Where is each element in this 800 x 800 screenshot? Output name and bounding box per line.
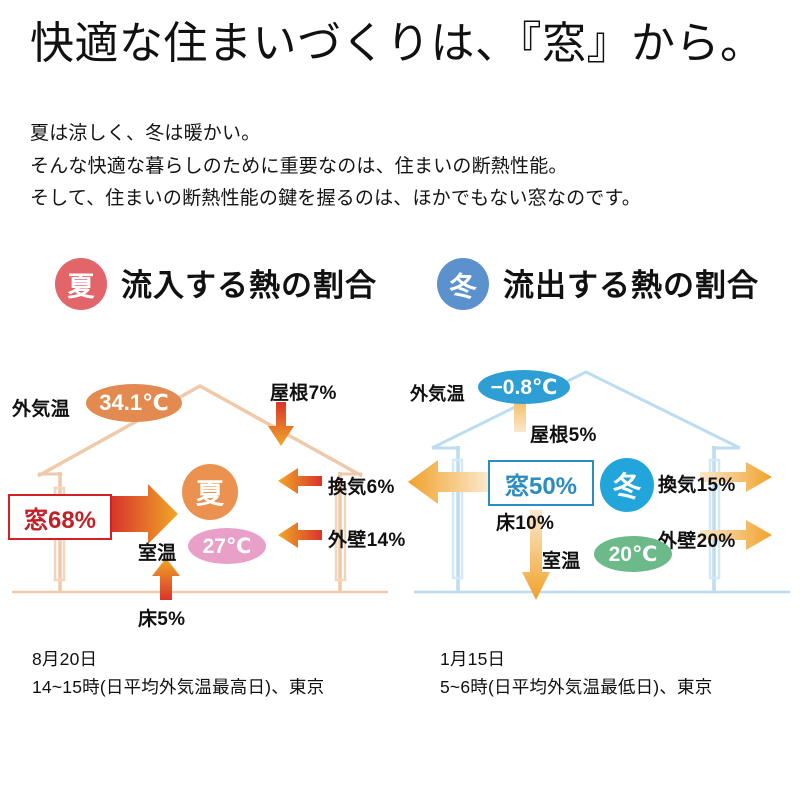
section-title-summer: 流入する熱の割合 [119,260,379,308]
label-wall-summer: 外壁14% [328,525,406,552]
season-badge-winter: 冬 [437,258,489,310]
section-heading-winter: 冬 流出する熱の割合 [437,258,761,310]
intro-paragraph: 夏は涼しく、冬は暖かい。 そんな快適な暮らしのために重要なのは、住まいの断熱性能… [30,118,641,216]
inside-temp-value-summer: 27℃ [188,528,266,564]
diagram-panel-summer: 外気温 34.1℃ 屋根7% 換気6% 外壁14% 床5% 窓68% 夏 室温 … [0,360,400,640]
label-window-winter: 窓50% [488,460,594,506]
label-floor-winter: 床10% [496,508,554,535]
outside-temp-label-summer: 外気温 [12,394,70,421]
season-mark-winter: 冬 [600,458,654,512]
label-vent-winter: 換気15% [658,470,736,497]
season-badge-summer: 夏 [55,258,107,310]
intro-line-2: そんな快適な暮らしのために重要なのは、住まいの断熱性能。 [30,151,641,184]
label-roof-winter: 屋根5% [530,420,597,447]
inside-temp-value-winter: 20℃ [594,536,672,572]
caption-winter: 1月15日 5~6時(日平均外気温最低日)、東京 [440,645,712,702]
page-title: 快適な住まいづくりは、『窓』から。 [30,16,765,71]
caption-summer: 8月20日 14~15時(日平均外気温最高日)、東京 [32,645,324,702]
intro-line-3: そして、住まいの断熱性能の鍵を握るのは、ほかでもない窓なのです。 [30,183,641,216]
label-window-summer: 窓68% [8,494,112,540]
section-title-summer-text: 流入する熱の割合 [121,268,377,303]
section-title-winter-text: 流出する熱の割合 [503,268,759,303]
intro-line-1: 夏は涼しく、冬は暖かい。 [30,118,641,151]
house-diagram-winter: 外気温 −0.8℃ 屋根5% 窓50% 冬 換気15% 外壁20% 床10% 室… [400,360,800,640]
caption-summer-date: 8月20日 [32,645,324,673]
outside-temp-value-winter: −0.8℃ [478,370,570,404]
label-roof-summer: 屋根7% [270,378,337,405]
label-vent-summer: 換気6% [328,472,395,499]
outside-temp-label-winter: 外気温 [410,380,465,406]
caption-winter-date: 1月15日 [440,645,712,673]
label-floor-summer: 床5% [138,604,185,631]
arrow-vent-summer [278,468,322,494]
inside-temp-label-summer: 室温 [138,538,177,565]
house-diagram-summer: 外気温 34.1℃ 屋根7% 換気6% 外壁14% 床5% 窓68% 夏 室温 … [0,360,400,640]
inside-temp-label-winter: 室温 [542,546,581,573]
season-mark-summer: 夏 [182,464,238,520]
arrow-wall-summer [278,522,322,548]
section-title-winter: 流出する熱の割合 [501,260,761,308]
caption-winter-detail: 5~6時(日平均外気温最低日)、東京 [440,673,712,701]
outside-temp-value-summer: 34.1℃ [86,384,182,422]
diagram-panel-winter: 外気温 −0.8℃ 屋根5% 窓50% 冬 換気15% 外壁20% 床10% 室… [400,360,800,640]
arrow-window-summer [112,484,178,544]
section-heading-summer: 夏 流入する熱の割合 [55,258,379,310]
caption-summer-detail: 14~15時(日平均外気温最高日)、東京 [32,673,324,701]
arrow-window-winter [408,460,488,504]
